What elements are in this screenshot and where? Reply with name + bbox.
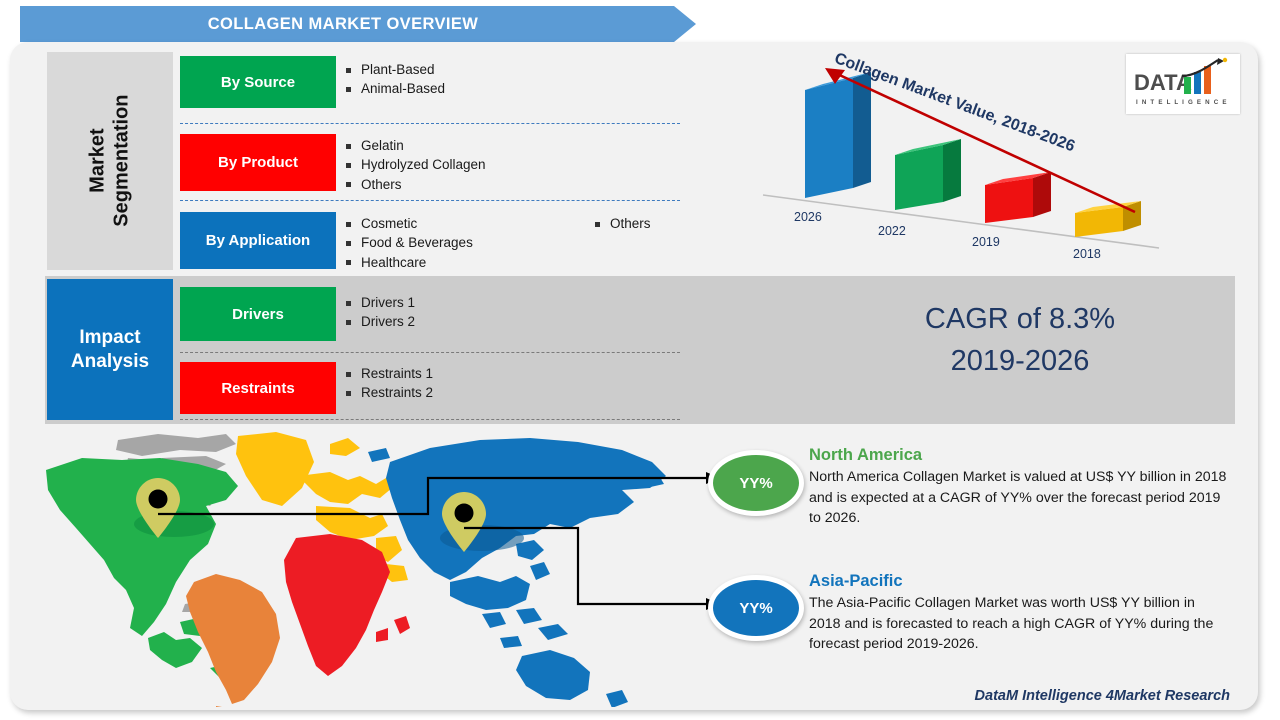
market-segmentation-label: Market Segmentation (47, 52, 173, 270)
impact-drivers-list: Drivers 1 Drivers 2 (346, 293, 415, 332)
world-map (30, 432, 720, 707)
map-region-south-america (186, 574, 280, 707)
impact-analysis-label: Impact Analysis (47, 279, 173, 420)
segment-by-source-chip[interactable]: By Source (180, 56, 336, 108)
chart-xtick-2026: 2026 (794, 210, 822, 224)
callout-asia-pacific: Asia-Pacific The Asia-Pacific Collagen M… (809, 572, 1229, 655)
bar-2018 (1075, 201, 1141, 237)
page-title: COLLAGEN MARKET OVERVIEW (208, 15, 487, 34)
callout-body-north-america: North America Collagen Market is valued … (809, 467, 1229, 529)
list-item: Plant-Based (346, 60, 445, 79)
datam-intelligence-logo: DATA I N T E L L I G E N C E (1126, 54, 1240, 114)
list-item: Animal-Based (346, 79, 445, 98)
list-item: Hydrolyzed Collagen (346, 155, 486, 174)
segment-by-source-list: Plant-Based Animal-Based (346, 60, 445, 99)
callout-title-north-america: North America (809, 446, 1229, 465)
impact-drivers-chip[interactable]: Drivers (180, 287, 336, 341)
list-item: Cosmetic (346, 214, 473, 233)
cagr-value: CAGR of 8.3% (790, 298, 1250, 340)
logo-subtitle: I N T E L L I G E N C E (1136, 99, 1228, 106)
badge-north-america[interactable]: YY% (708, 450, 804, 516)
impact-restraints-chip[interactable]: Restraints (180, 362, 336, 414)
bar-2026 (805, 72, 871, 198)
divider (180, 123, 680, 124)
callout-title-asia-pacific: Asia-Pacific (809, 572, 1229, 591)
bar-2022 (895, 139, 961, 210)
impact-analysis-label-text: Impact Analysis (71, 326, 149, 374)
list-item: Gelatin (346, 136, 486, 155)
list-item: Restraints 1 (346, 364, 433, 383)
bar-2019 (985, 172, 1051, 223)
divider (180, 200, 680, 201)
logo-wordmark: DATA (1134, 70, 1192, 95)
segment-by-application-list: Cosmetic Food & Beverages Healthcare (346, 214, 473, 272)
divider (180, 352, 680, 353)
cagr-callout: CAGR of 8.3% 2019-2026 (790, 298, 1250, 382)
chart-xtick-2019: 2019 (972, 235, 1000, 249)
list-item: Drivers 1 (346, 293, 415, 312)
badge-asia-pacific[interactable]: YY% (708, 575, 804, 641)
segment-by-application-list-col2: Others (595, 214, 651, 233)
trend-arrow (825, 68, 1135, 212)
infographic-root: COLLAGEN MARKET OVERVIEW Market Segmenta… (0, 0, 1280, 720)
market-segmentation-label-text: Market Segmentation (86, 95, 133, 227)
list-item: Food & Beverages (346, 233, 473, 252)
banner-arrow-tip (674, 6, 696, 42)
logo-artwork: DATA I N T E L L I G E N C E (1126, 54, 1240, 114)
chart-xtick-2018: 2018 (1073, 247, 1101, 261)
list-item: Healthcare (346, 253, 473, 272)
segment-by-application-chip[interactable]: By Application (180, 212, 336, 269)
list-item: Drivers 2 (346, 312, 415, 331)
chart-xtick-2022: 2022 (878, 224, 906, 238)
divider (180, 419, 680, 420)
impact-restraints-list: Restraints 1 Restraints 2 (346, 364, 433, 403)
source-credit: DataM Intelligence 4Market Research (810, 688, 1230, 704)
segment-by-product-list: Gelatin Hydrolyzed Collagen Others (346, 136, 486, 194)
header-banner: COLLAGEN MARKET OVERVIEW (20, 6, 674, 42)
segment-by-product-chip[interactable]: By Product (180, 134, 336, 191)
callout-body-asia-pacific: The Asia-Pacific Collagen Market was wor… (809, 593, 1229, 655)
callout-north-america: North America North America Collagen Mar… (809, 446, 1229, 529)
list-item: Restraints 2 (346, 383, 433, 402)
list-item: Others (346, 175, 486, 194)
list-item: Others (595, 214, 651, 233)
cagr-period: 2019-2026 (790, 340, 1250, 382)
